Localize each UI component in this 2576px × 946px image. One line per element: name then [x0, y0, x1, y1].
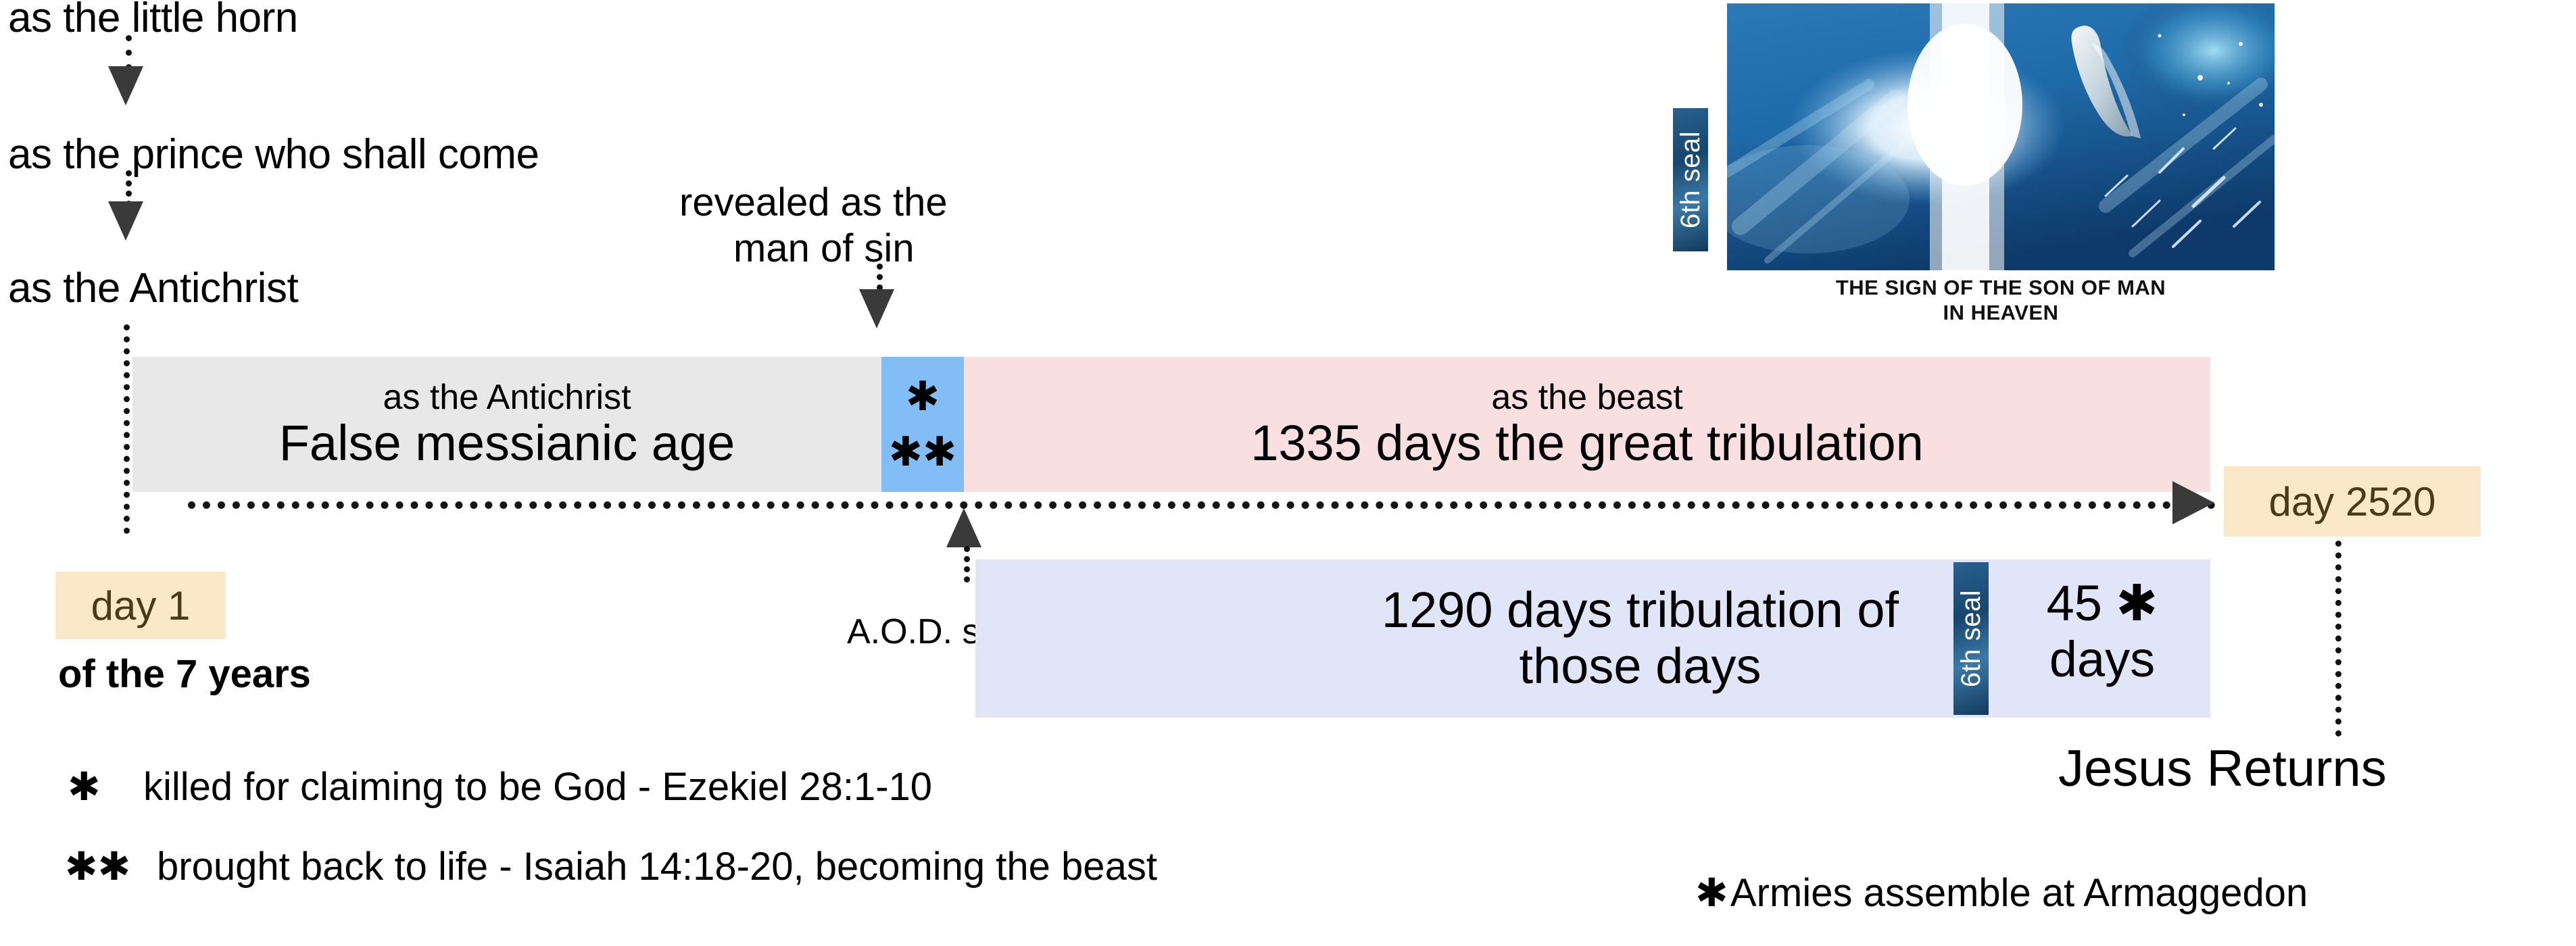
segment-45-days: 45 ✱ days: [2001, 576, 2204, 688]
footnote-2-text: brought back to life - Isaiah 14:18-20, …: [157, 847, 1157, 888]
segment-1290-days-line1: 1290 days tribulation of: [1382, 582, 1899, 639]
cascade-label-antichrist: as the Antichrist: [8, 268, 298, 309]
sign-of-son-of-man-image: [1727, 3, 2275, 270]
footnote-1-mark: ✱: [68, 767, 101, 808]
segment-false-messianic-age-sublabel: as the Antichrist: [383, 379, 631, 416]
day-chip-start-sublabel: of the 7 years: [58, 654, 311, 695]
segment-great-tribulation: as the beast 1335 days the great tribula…: [964, 357, 2210, 492]
marker-star-single: ✱: [906, 376, 940, 417]
end-anchor-dotted-line: [2335, 541, 2341, 737]
heaven-caption-line1: THE SIGN OF THE SON OF MAN: [1727, 276, 2275, 301]
seal-badge-lower: 6th seal: [1953, 562, 1989, 715]
segment-45-days-line1: 45 ✱: [2001, 576, 2204, 632]
segment-death-resurrection-marker: ✱ ✱✱: [881, 357, 964, 492]
armageddon-note-text: Armies assemble at Armaggedon: [1730, 873, 2308, 914]
start-anchor-dotted-line: [124, 324, 130, 534]
cascade-label-little-horn: as the little horn: [8, 0, 298, 39]
callout-revealed-connector-dots: [877, 264, 883, 291]
callout-revealed-line1: revealed as the: [679, 182, 948, 224]
segment-45-days-line2: days: [2001, 632, 2204, 688]
segment-great-tribulation-label: 1335 days the great tribulation: [1250, 417, 1924, 470]
prophecy-timeline-diagram: as the little horn as the prince who sha…: [0, 0, 2576, 946]
timeline-dotted-axis: [188, 501, 2216, 509]
segment-1290-days-label-wrap: 1290 days tribulation of those days: [1287, 582, 1899, 695]
aod-arrow-icon: [946, 508, 981, 547]
cascade-arrow-1-icon: [108, 66, 143, 105]
segment-false-messianic-age-label: False messianic age: [279, 417, 735, 470]
footnote-2-mark: ✱✱: [65, 847, 130, 888]
callout-revealed-arrow-icon: [859, 289, 894, 328]
heaven-caption-line2: IN HEAVEN: [1727, 301, 2275, 326]
cascade-connector-1-dots: [126, 35, 132, 70]
day-chip-start: day 1: [55, 572, 226, 639]
day-chip-end: day 2520: [2224, 466, 2481, 537]
segment-false-messianic-age: as the Antichrist False messianic age: [132, 357, 881, 492]
heaven-light-burst-icon: [1727, 3, 2275, 270]
callout-revealed-line2: man of sin: [733, 228, 915, 270]
footnote-1-text: killed for claiming to be God - Ezekiel …: [143, 767, 932, 808]
seal-badge-upper-label: 6th seal: [1676, 131, 1706, 228]
cascade-arrow-2-icon: [108, 201, 143, 241]
segment-1290-days-line2: those days: [1382, 639, 1899, 695]
segment-great-tribulation-sublabel: as the beast: [1491, 379, 1682, 416]
jesus-returns-label: Jesus Returns: [2058, 742, 2387, 796]
timeline-end-arrow-icon: [2172, 481, 2214, 524]
armageddon-note-mark: ✱: [1695, 873, 1728, 914]
marker-star-double: ✱✱: [889, 432, 957, 472]
seal-badge-upper: 6th seal: [1673, 108, 1708, 251]
heaven-image-caption: THE SIGN OF THE SON OF MAN IN HEAVEN: [1727, 276, 2275, 325]
seal-badge-lower-label: 6th seal: [1956, 590, 1987, 687]
cascade-label-prince-who-shall-come: as the prince who shall come: [8, 134, 539, 176]
aod-connector-dots: [964, 546, 970, 582]
